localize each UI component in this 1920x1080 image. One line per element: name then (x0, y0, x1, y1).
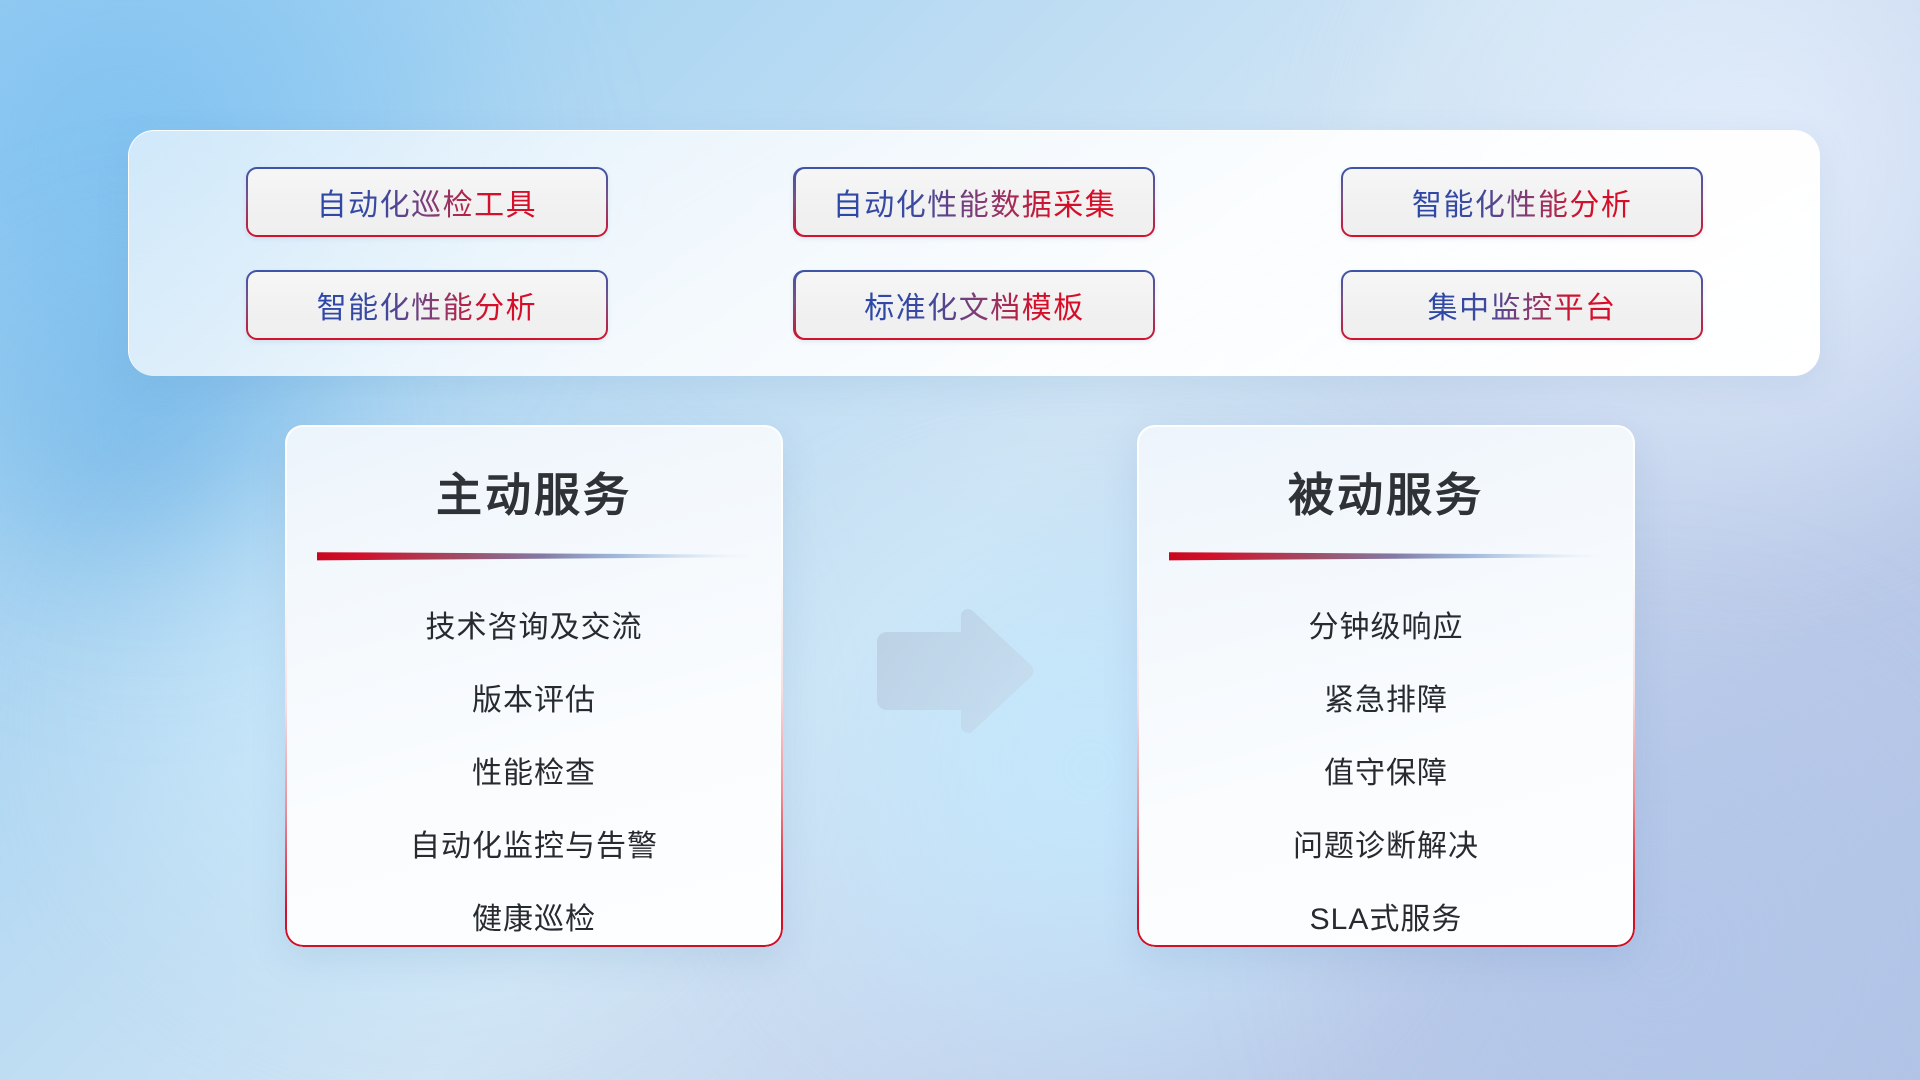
service-item: 健康巡检 (472, 883, 596, 947)
service-item: 值守保障 (1324, 737, 1448, 810)
capability-pill-6-body: 集中监控平台 (1343, 272, 1701, 338)
capability-pill-5-body: 标准化文档模板 (796, 272, 1154, 338)
service-item: 紧急排障 (1324, 664, 1448, 737)
capability-pill-5-label: 标准化文档模板 (864, 283, 1085, 327)
capability-pill-4-body: 智能化性能分析 (248, 272, 606, 338)
service-item: 自动化监控与告警 (410, 810, 658, 883)
capability-pill-6[interactable]: 集中监控平台 (1341, 270, 1703, 340)
service-card-passive: 被动服务 分钟级响应 紧急排障 值守保障 问题诊断解决 SLA式服务 (1137, 425, 1635, 947)
service-card-passive-list: 分钟级响应 紧急排障 值守保障 问题诊断解决 SLA式服务 (1137, 591, 1635, 947)
capability-pill-3-body: 智能化性能分析 (1343, 169, 1701, 235)
capability-pill-3[interactable]: 智能化性能分析 (1341, 167, 1703, 237)
service-item: 问题诊断解决 (1293, 810, 1479, 883)
capability-pill-1-label: 自动化巡检工具 (317, 180, 538, 224)
capabilities-panel: 自动化巡检工具 自动化性能数据采集 智能化性能分析 智能化性能分析 标准化文档模… (128, 130, 1820, 376)
service-card-passive-divider (1169, 549, 1603, 563)
capability-pill-4[interactable]: 智能化性能分析 (246, 270, 608, 340)
service-card-passive-title: 被动服务 (1137, 459, 1635, 525)
capability-pill-2-body: 自动化性能数据采集 (796, 169, 1154, 235)
capability-pill-5[interactable]: 标准化文档模板 (793, 270, 1155, 340)
capability-pill-3-label: 智能化性能分析 (1412, 180, 1633, 224)
service-item: 技术咨询及交流 (426, 591, 643, 664)
service-card-active-title: 主动服务 (285, 459, 783, 525)
service-card-active: 主动服务 技术咨询及交流 版本评估 性能检查 自动化监控与告警 健康巡检 (285, 425, 783, 947)
service-item: 分钟级响应 (1309, 591, 1464, 664)
service-item: 性能检查 (472, 737, 596, 810)
capability-pill-1[interactable]: 自动化巡检工具 (246, 167, 608, 237)
capability-pill-6-label: 集中监控平台 (1428, 283, 1617, 327)
service-item: SLA式服务 (1310, 883, 1463, 947)
service-item: 版本评估 (472, 664, 596, 737)
service-card-active-divider (317, 549, 751, 563)
capability-pill-2[interactable]: 自动化性能数据采集 (793, 167, 1155, 237)
service-card-active-list: 技术咨询及交流 版本评估 性能检查 自动化监控与告警 健康巡检 (285, 591, 783, 947)
capability-pill-1-body: 自动化巡检工具 (248, 169, 606, 235)
capability-pill-4-label: 智能化性能分析 (317, 283, 538, 327)
arrow-right-icon (869, 608, 1037, 734)
capability-pill-2-label: 自动化性能数据采集 (833, 180, 1117, 224)
